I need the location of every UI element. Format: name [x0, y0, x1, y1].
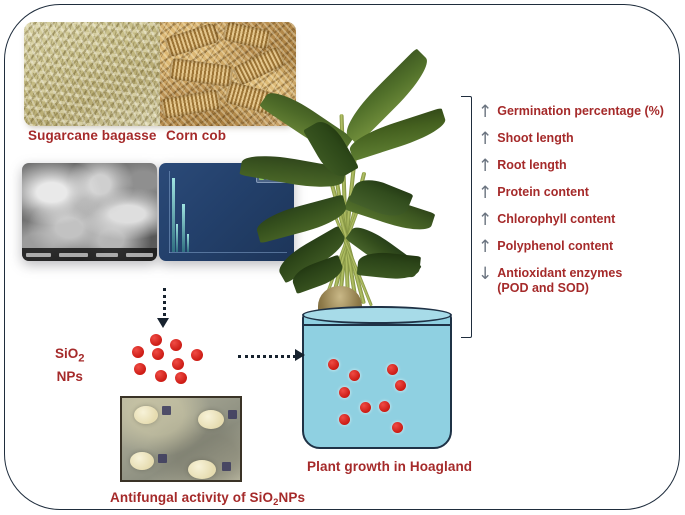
result-item: ↓Antioxidant enzymes(POD and SOD): [478, 266, 683, 295]
arrow-up-icon: ↑: [478, 158, 492, 174]
antifungal-petri-dish-image: [120, 396, 242, 482]
plant-illustration: [258, 18, 488, 338]
result-item: ↑Germination percentage (%): [478, 104, 683, 120]
downward-dotted-line: [163, 288, 166, 322]
sem-info-bar: [22, 248, 157, 261]
beaker-body: [302, 314, 452, 449]
feedstock-photo-strip: [24, 22, 296, 126]
right-arrow-icon: [295, 349, 305, 361]
arrow-up-icon: ↑: [478, 239, 492, 255]
caption-antifungal-activity: Antifungal activity of SiO2NPs: [110, 490, 305, 505]
antifungal-text-pre: Antifungal activity of SiO: [110, 490, 273, 505]
arrow-up-icon: ↑: [478, 104, 492, 120]
leaf: [357, 250, 421, 281]
results-bracket: [461, 96, 472, 338]
antifungal-subscript: 2: [273, 497, 278, 508]
antifungal-text-post: NPs: [279, 490, 306, 505]
sio2-subscript: 2: [78, 353, 84, 365]
beaker-liquid-line: [304, 324, 450, 326]
beaker-rim: [302, 306, 452, 324]
result-item-label: Germination percentage (%): [497, 104, 664, 119]
rightward-dotted-line: [238, 355, 296, 358]
result-item: ↑Polyphenol content: [478, 239, 683, 255]
characterization-strip: [22, 163, 294, 261]
nanoparticle-cluster: [128, 330, 223, 385]
sio2-nps-label: SiO2 NPs: [55, 345, 85, 385]
nps-text: NPs: [55, 368, 85, 385]
result-item: ↑Chlorophyll content: [478, 212, 683, 228]
caption-corn-cob: Corn cob: [166, 128, 226, 143]
result-item-label: Chlorophyll content: [497, 212, 615, 227]
results-list: ↑Germination percentage (%)↑Shoot length…: [478, 104, 683, 306]
down-arrow-icon: [157, 318, 169, 328]
result-item: ↑Protein content: [478, 185, 683, 201]
sugarcane-bagasse-photo: [24, 22, 160, 126]
result-item-label: Polyphenol content: [497, 239, 613, 254]
sio2-text: SiO: [55, 346, 78, 361]
result-item-label: Protein content: [497, 185, 589, 200]
result-item-label: Antioxidant enzymes(POD and SOD): [497, 266, 622, 295]
result-item-label: Root length: [497, 158, 566, 173]
sem-micrograph-image: [22, 163, 157, 261]
arrow-down-icon: ↓: [478, 266, 492, 282]
hoagland-beaker: [302, 304, 452, 452]
result-item: ↑Root length: [478, 158, 683, 174]
caption-sugarcane-bagasse: Sugarcane bagasse: [28, 128, 157, 143]
arrow-up-icon: ↑: [478, 185, 492, 201]
arrow-up-icon: ↑: [478, 131, 492, 147]
arrow-up-icon: ↑: [478, 212, 492, 228]
graphical-abstract: Sugarcane bagasse Corn cob: [0, 0, 685, 515]
result-item: ↑Shoot length: [478, 131, 683, 147]
caption-plant-growth-hoagland: Plant growth in Hoagland: [307, 459, 472, 474]
result-item-label: Shoot length: [497, 131, 573, 146]
